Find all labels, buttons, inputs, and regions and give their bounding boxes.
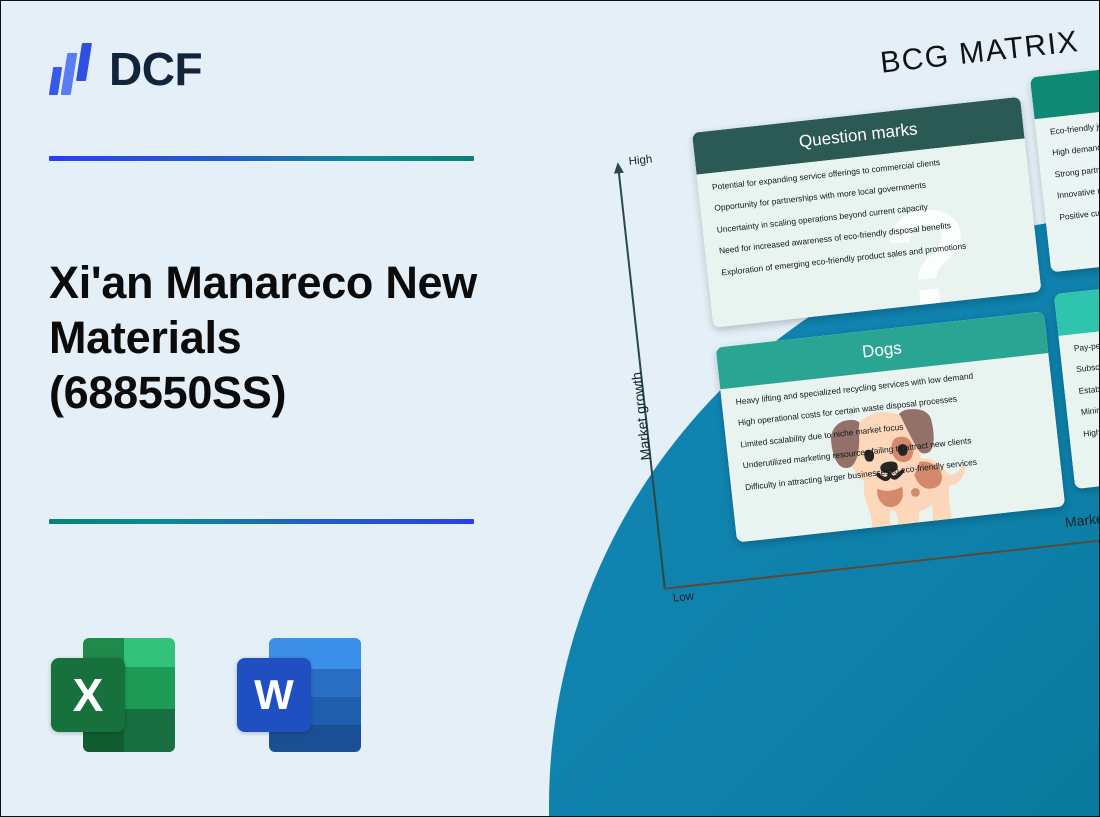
- list-item: Subscription: [1076, 332, 1100, 373]
- logo-bar-medium: [61, 53, 78, 95]
- quadrant-dogs: Dogs 🐕 Heavy lifting and specialized rec…: [716, 311, 1066, 542]
- market-share-label: Market share: [1064, 505, 1100, 530]
- brand-logo[interactable]: DCF: [49, 39, 202, 99]
- quadrant-cash-cows: Cash cows 🐄 Pay-per-volu Subscription Es…: [1054, 258, 1100, 489]
- quadrant-list-dogs: Heavy lifting and specialized recycling …: [735, 365, 1045, 492]
- word-letter: W: [237, 658, 311, 732]
- page-root: BCG MATRIX High Low Market growth Market…: [0, 0, 1100, 817]
- brand-name: DCF: [109, 46, 202, 92]
- logo-bar-tall: [76, 43, 92, 81]
- axis-low-label: Low: [672, 591, 694, 605]
- quadrant-stars: Stars ★ Eco-friendly junk remo High dema…: [1030, 41, 1100, 272]
- list-item: Minimal c: [1081, 375, 1100, 416]
- list-item: High volu: [1083, 396, 1100, 437]
- quadrant-question-marks: Question marks ? Potential for expanding…: [692, 97, 1042, 328]
- market-growth-label: Market growth: [628, 371, 654, 461]
- download-formats: X W: [49, 636, 363, 754]
- excel-letter: X: [51, 658, 125, 732]
- axis-high-label: High: [628, 153, 653, 168]
- divider-bottom: [49, 519, 474, 524]
- matrix-title: BCG MATRIX: [879, 25, 1081, 81]
- divider-top: [49, 156, 474, 161]
- excel-file-icon[interactable]: X: [49, 636, 177, 754]
- page-title: Xi'an Manareco New Materials (688550SS): [49, 256, 489, 421]
- word-file-icon[interactable]: W: [235, 636, 363, 754]
- quadrant-list-question-marks: Potential for expanding service offering…: [712, 150, 1022, 277]
- list-item: Established: [1078, 354, 1100, 395]
- bar-chart-logo-icon: [49, 41, 95, 97]
- bcg-matrix: BCG MATRIX High Low Market growth Market…: [599, 52, 1100, 578]
- cover-left-panel: DCF Xi'an Manareco New Materials (688550…: [1, 1, 521, 817]
